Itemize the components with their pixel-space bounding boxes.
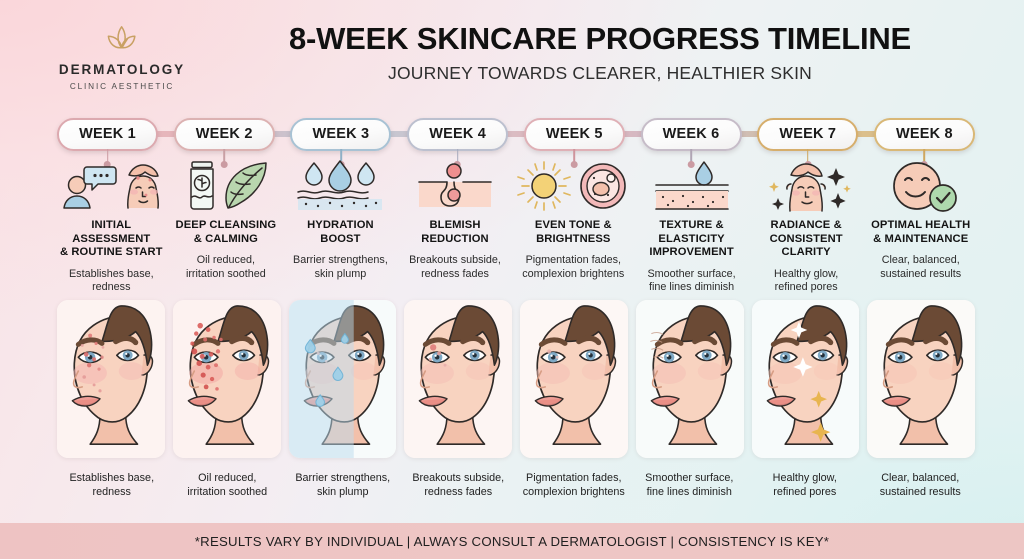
page-subtitle: JOURNEY TOWARDS CLEARER, HEALTHIER SKIN <box>200 63 1000 84</box>
stage-description: Healthy glow, refined pores <box>774 268 838 295</box>
stage-title: OPTIMAL HEALTH & MAINTENANCE <box>871 219 970 246</box>
footer-bar: *RESULTS VARY BY INDIVIDUAL | ALWAYS CON… <box>0 523 1024 559</box>
week-pill-8[interactable]: WEEK 8 <box>874 118 975 151</box>
week-pill-label: WEEK 2 <box>196 126 253 142</box>
stage-title: TEXTURE & ELASTICITY IMPROVEMENT <box>649 219 733 260</box>
face-illustration-week-6 <box>636 300 744 458</box>
stage-description: Smoother surface, fine lines diminish <box>647 268 735 295</box>
title-block: 8-WEEK SKINCARE PROGRESS TIMELINE JOURNE… <box>200 22 1000 84</box>
timeline-pills: WEEK 1WEEK 2WEEK 3WEEK 4WEEK 5WEEK 6WEEK… <box>57 110 975 158</box>
skin-layer-droplet-icon <box>637 160 746 212</box>
week-pill-6[interactable]: WEEK 6 <box>641 118 742 151</box>
week-pill-4[interactable]: WEEK 4 <box>407 118 508 151</box>
face-illustration-week-7 <box>752 300 860 458</box>
stage-column-3: HYDRATION BOOST Barrier strengthens, ski… <box>286 160 395 295</box>
stage-column-4: BLEMISH REDUCTION Breakouts subside, red… <box>401 160 510 295</box>
infographic-poster: DERMATOLOGY CLINIC AESTHETIC 8-WEEK SKIN… <box>0 0 1024 559</box>
face-caption-week-8: Clear, balanced, sustained results <box>866 472 976 499</box>
face-illustration-week-2 <box>173 300 281 458</box>
face-illustration-week-1 <box>57 300 165 458</box>
face-caption-week-3: Barrier strengthens, skin plump <box>288 472 398 499</box>
face-caption-week-6: Smoother surface, fine lines diminish <box>635 472 745 499</box>
week-pill-label: WEEK 8 <box>896 126 953 142</box>
week-pill-5[interactable]: WEEK 5 <box>524 118 625 151</box>
stage-description: Pigmentation fades, complexion brightens <box>522 254 624 281</box>
stage-description: Breakouts subside, redness fades <box>409 254 501 281</box>
week-pill-3[interactable]: WEEK 3 <box>290 118 391 151</box>
face-caption-week-1: Establishes base, redness <box>57 472 167 499</box>
face-illustration-week-4 <box>404 300 512 458</box>
face-illustration-week-3 <box>289 300 397 458</box>
face-caption-week-7: Healthy glow, refined pores <box>750 472 860 499</box>
water-droplets-hydration-icon <box>286 160 395 212</box>
stage-column-8: OPTIMAL HEALTH & MAINTENANCE Clear, bala… <box>866 160 975 295</box>
face-caption-week-5: Pigmentation fades, complexion brightens <box>519 472 629 499</box>
timeline-rail-row: WEEK 1WEEK 2WEEK 3WEEK 4WEEK 5WEEK 6WEEK… <box>0 110 1024 158</box>
consultation-face-icon <box>57 160 166 212</box>
pore-blemish-icon <box>401 160 510 212</box>
smiley-check-icon <box>866 160 975 212</box>
stage-title: EVEN TONE & BRIGHTNESS <box>535 219 612 246</box>
stage-column-6: TEXTURE & ELASTICITY IMPROVEMENT Smoothe… <box>637 160 746 295</box>
stage-column-7: RADIANCE & CONSISTENT CLARITY Healthy gl… <box>752 160 861 295</box>
week-pill-label: WEEK 1 <box>79 126 136 142</box>
stage-description: Oil reduced, irritation soothed <box>186 254 266 281</box>
week-pill-label: WEEK 3 <box>313 126 370 142</box>
header: DERMATOLOGY CLINIC AESTHETIC 8-WEEK SKIN… <box>0 0 1024 108</box>
stage-title: INITIAL ASSESSMENT & ROUTINE START <box>57 219 166 260</box>
brand-logo: DERMATOLOGY CLINIC AESTHETIC <box>52 24 192 91</box>
stage-title: RADIANCE & CONSISTENT CLARITY <box>770 219 843 260</box>
week-pill-label: WEEK 5 <box>546 126 603 142</box>
glowing-face-sparkle-icon <box>752 160 861 212</box>
brand-tagline: CLINIC AESTHETIC <box>52 82 192 91</box>
stage-column-1: INITIAL ASSESSMENT & ROUTINE START Estab… <box>57 160 166 295</box>
stage-title: HYDRATION BOOST <box>307 219 374 246</box>
brand-name: DERMATOLOGY <box>52 63 192 78</box>
face-progress-row <box>57 300 975 458</box>
caption-row: Establishes base, rednessOil reduced, ir… <box>57 472 975 499</box>
face-caption-week-2: Oil reduced, irritation soothed <box>173 472 283 499</box>
stage-description: Barrier strengthens, skin plump <box>293 254 388 281</box>
sun-pigment-cell-icon <box>515 160 631 212</box>
face-illustration-week-5 <box>520 300 628 458</box>
cleanser-tube-leaf-icon <box>172 160 281 212</box>
week-pill-label: WEEK 6 <box>663 126 720 142</box>
leaf-lotus-icon <box>98 24 145 58</box>
stage-title: DEEP CLEANSING & CALMING <box>176 219 277 246</box>
stage-column-2: DEEP CLEANSING & CALMING Oil reduced, ir… <box>172 160 281 295</box>
stage-grid: INITIAL ASSESSMENT & ROUTINE START Estab… <box>57 160 975 295</box>
week-pill-2[interactable]: WEEK 2 <box>174 118 275 151</box>
face-illustration-week-8 <box>867 300 975 458</box>
face-caption-week-4: Breakouts subside, redness fades <box>404 472 514 499</box>
week-pill-7[interactable]: WEEK 7 <box>757 118 858 151</box>
stage-column-5: EVEN TONE & BRIGHTNESS Pigmentation fade… <box>515 160 631 295</box>
footer-disclaimer: *RESULTS VARY BY INDIVIDUAL | ALWAYS CON… <box>195 534 829 549</box>
page-title: 8-WEEK SKINCARE PROGRESS TIMELINE <box>200 22 1000 57</box>
week-pill-1[interactable]: WEEK 1 <box>57 118 158 151</box>
stage-title: BLEMISH REDUCTION <box>421 219 488 246</box>
week-pill-label: WEEK 4 <box>429 126 486 142</box>
stage-description: Clear, balanced, sustained results <box>880 254 961 281</box>
week-pill-label: WEEK 7 <box>779 126 836 142</box>
stage-description: Establishes base, redness <box>69 268 154 295</box>
